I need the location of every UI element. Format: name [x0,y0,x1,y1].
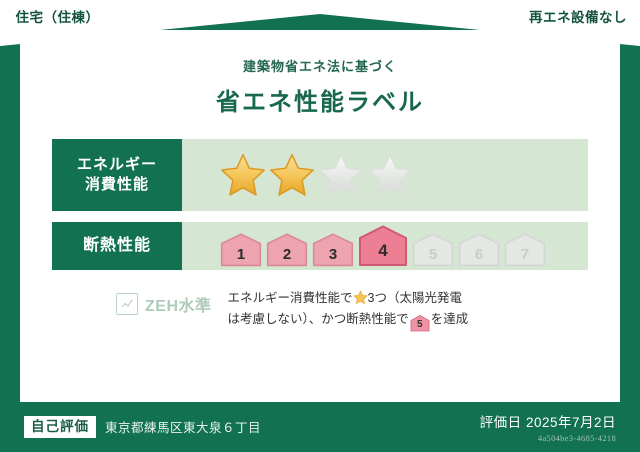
zeh-label: ZEH水準 [145,292,212,316]
energy-performance-label-cell: エネルギー 消費性能 [52,139,182,211]
insulation-performance-value-cell: 1234567 [182,222,588,270]
zeh-desc-part1: エネルギー消費性能で [228,291,353,305]
insulation-grade-number: 4 [378,241,387,267]
insulation-grade-6: 6 [458,233,500,267]
insulation-grade-number: 2 [283,246,291,267]
insulation-grade-scale: 1234567 [220,225,546,267]
insulation-grade-number: 1 [237,246,245,267]
evaluation-date: 評価日 2025年7月2日 [480,411,616,431]
energy-performance-label: 住宅（住棟） 再エネ設備なし 建築物省エネ法に基づく 省エネ性能ラベル エネルギ… [0,0,640,452]
zeh-description: エネルギー消費性能で3つ（太陽光発電 は考慮しない）、かつ断熱性能で5を達成 [228,288,469,332]
inline-house-badge-number: 5 [410,315,430,335]
evaluation-date-label: 評価日 [480,415,522,430]
zeh-standard-block: ZEH水準 エネルギー消費性能で3つ（太陽光発電 は考慮しない）、かつ断熱性能で… [116,288,620,332]
evaluation-date-value: 2025年7月2日 [526,415,616,430]
star-filled-icon [220,152,266,198]
star-rating [220,152,413,198]
energy-label-line1: エネルギー [77,155,157,175]
insulation-grade-7: 7 [504,233,546,267]
title-block: 建築物省エネ法に基づく 省エネ性能ラベル [20,30,620,117]
energy-performance-value-cell [182,139,588,211]
renewable-equipment-tag: 再エネ設備なし [516,0,640,31]
footer-left-group: 自己評価 東京都練馬区東大泉６丁目 [24,416,261,438]
insulation-grade-2: 2 [266,233,308,267]
evaluation-id: 4a504be3-4685-4218 [480,433,616,443]
insulation-grade-5: 5 [412,233,454,267]
insulation-grade-1: 1 [220,233,262,267]
zeh-desc-part3: を達成 [431,312,469,326]
title-subtitle: 建築物省エネ法に基づく [20,56,620,75]
star-empty-icon [367,152,413,198]
inline-star-icon [353,290,368,305]
self-evaluation-badge: 自己評価 [24,416,96,438]
performance-rows: エネルギー 消費性能 断熱性能 1234567 [52,139,588,270]
energy-label-line2: 消費性能 [85,175,149,195]
label-card: 建築物省エネ法に基づく 省エネ性能ラベル エネルギー 消費性能 断熱性能 123… [20,30,620,402]
zeh-badge: ZEH水準 [116,288,212,316]
insulation-grade-4: 4 [358,225,408,267]
insulation-performance-label-cell: 断熱性能 [52,222,182,270]
zeh-desc-star-count: 3つ（太陽光発電 [368,291,462,305]
energy-performance-row: エネルギー 消費性能 [52,139,588,211]
insulation-grade-number: 7 [521,246,529,267]
property-address: 東京都練馬区東大泉６丁目 [105,417,261,436]
footer-right-group: 評価日 2025年7月2日 4a504be3-4685-4218 [480,411,616,443]
zeh-desc-part2: は考慮しない）、かつ断熱性能で [228,312,409,326]
insulation-grade-number: 5 [429,246,437,267]
insulation-grade-3: 3 [312,233,354,267]
zeh-chart-icon [116,293,138,315]
insulation-performance-row: 断熱性能 1234567 [52,222,588,270]
star-empty-icon [318,152,364,198]
star-filled-icon [269,152,315,198]
insulation-grade-number: 3 [329,246,337,267]
inline-house-badge: 5 [410,315,430,332]
label-footer: 自己評価 東京都練馬区東大泉６丁目 評価日 2025年7月2日 4a504be3… [0,402,640,452]
building-type-tag: 住宅（住棟） [0,0,115,31]
page-title: 省エネ性能ラベル [20,82,620,117]
insulation-grade-number: 6 [475,246,483,267]
